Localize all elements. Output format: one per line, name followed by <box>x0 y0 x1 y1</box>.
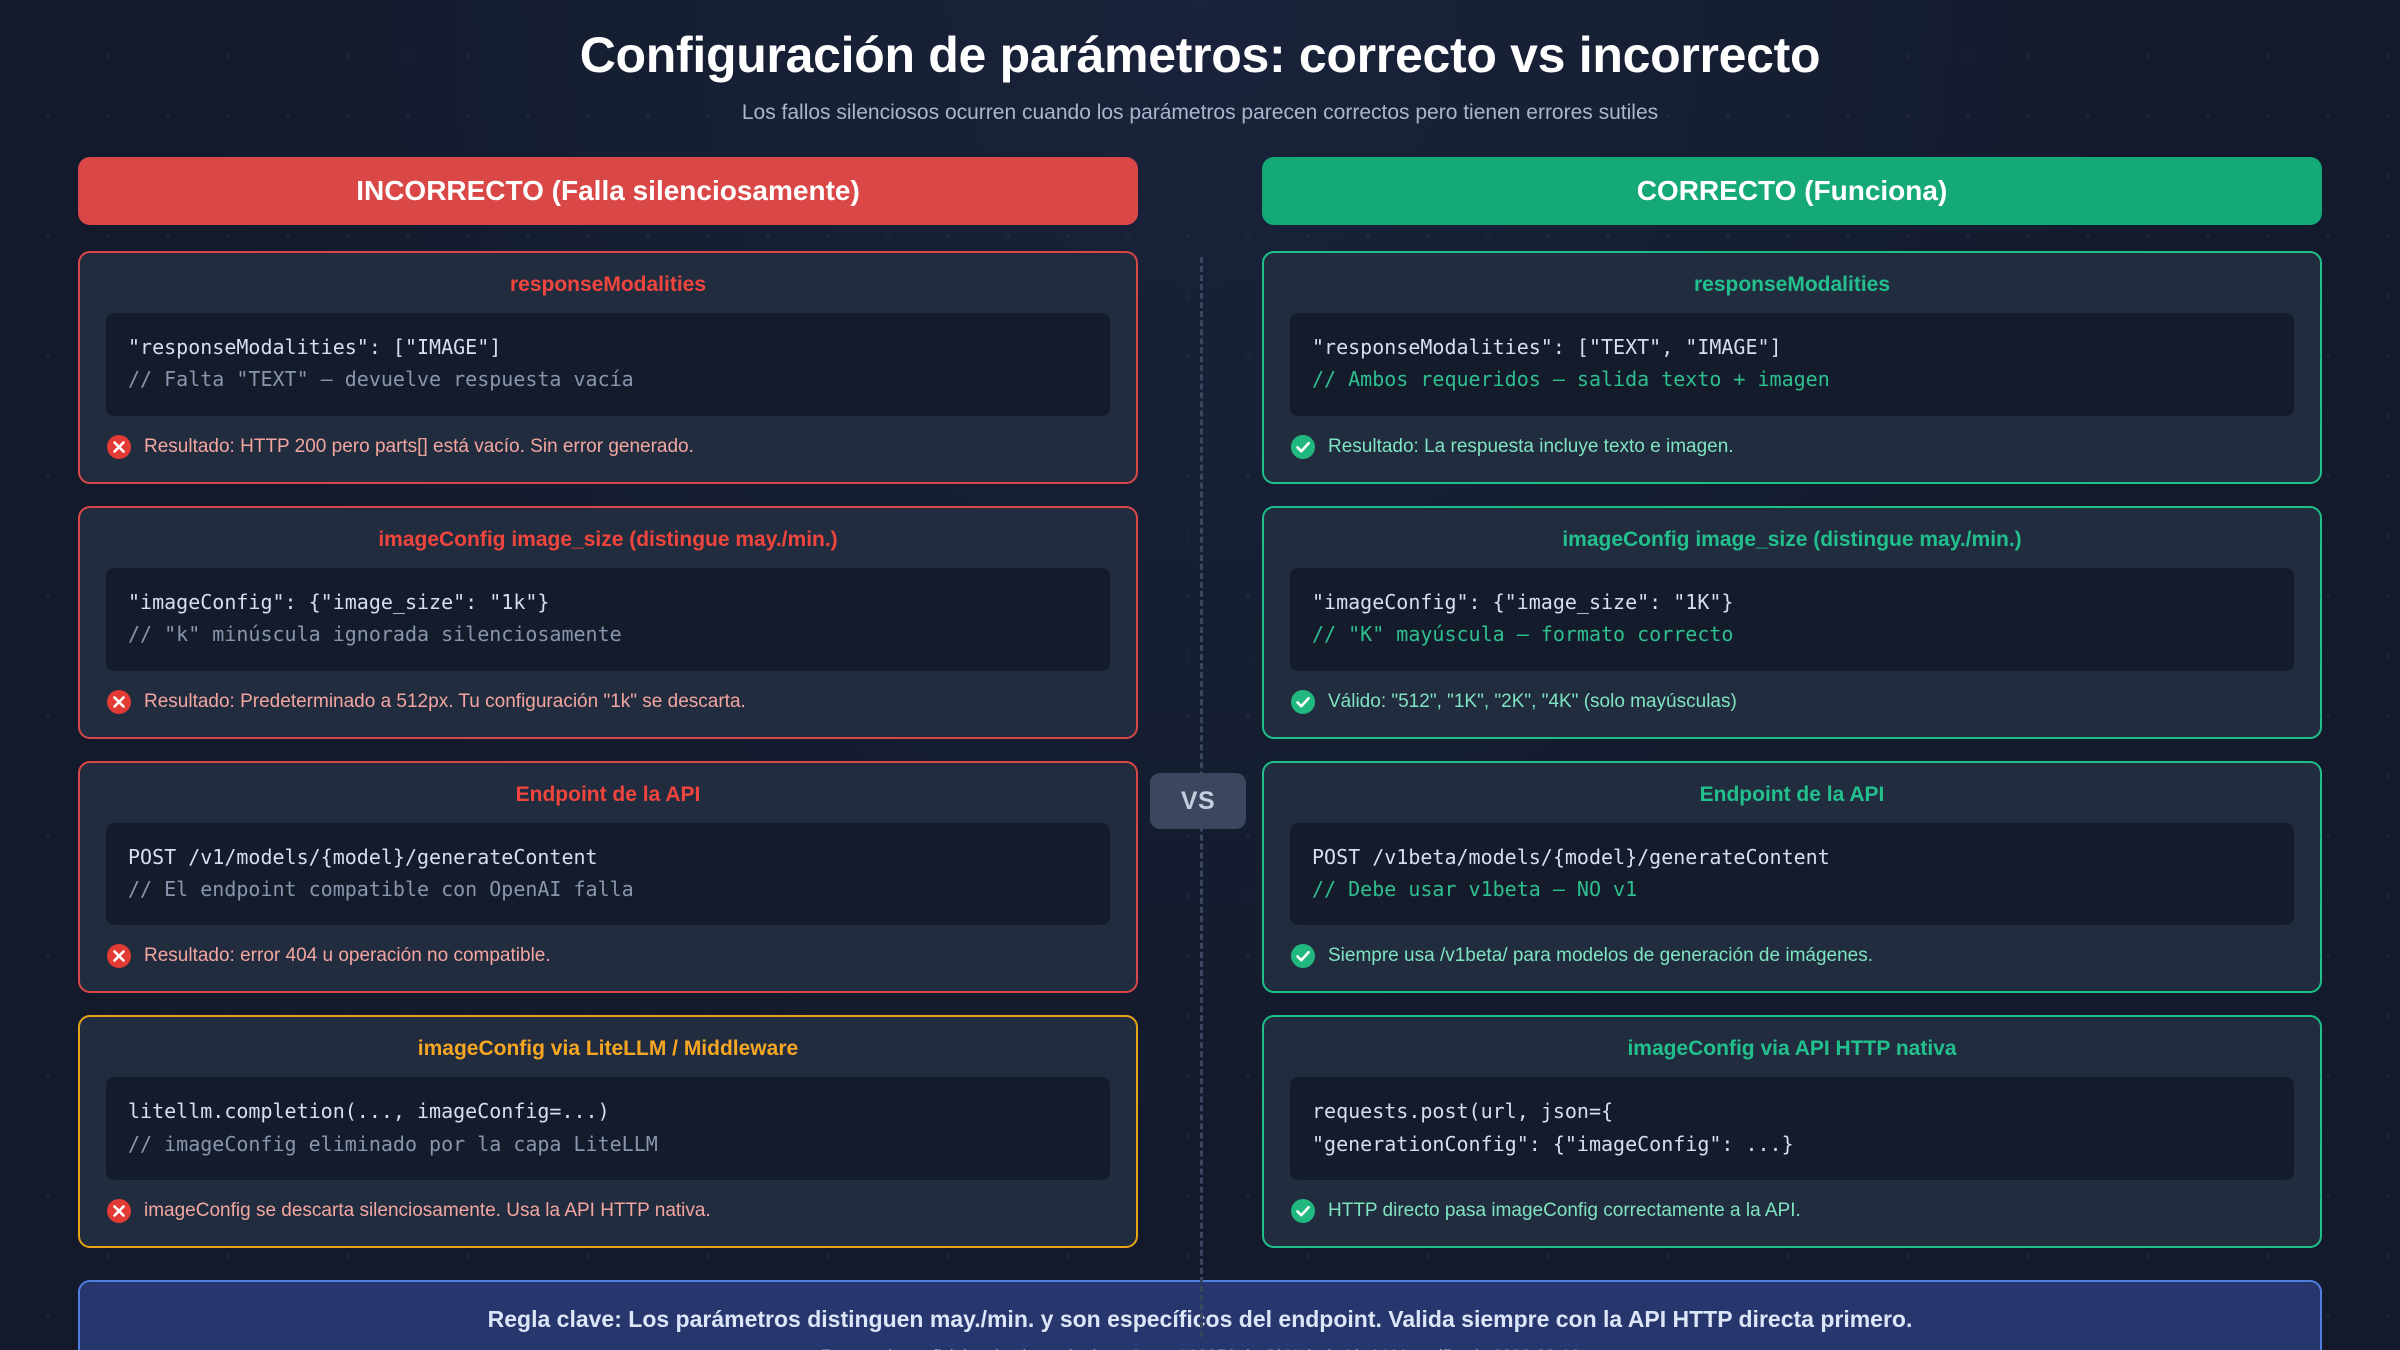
success-check-icon <box>1290 1198 1316 1224</box>
result-row: Resultado: La respuesta incluye texto e … <box>1290 434 2294 460</box>
header: Configuración de parámetros: correcto vs… <box>0 0 2400 125</box>
code-line-primary: "imageConfig": {"image_size": "1k"} <box>128 586 1088 618</box>
code-line-comment: // Debe usar v1beta — NO v1 <box>1312 873 2272 905</box>
code-line-comment: // El endpoint compatible con OpenAI fal… <box>128 873 1088 905</box>
success-check-icon <box>1290 943 1316 969</box>
card-title: imageConfig via LiteLLM / Middleware <box>106 1037 1110 1061</box>
code-line-primary: requests.post(url, json={ <box>1312 1095 2272 1127</box>
card-good-api-endpoint: Endpoint de la API POST /v1beta/models/{… <box>1262 761 2322 994</box>
result-text: Siempre usa /v1beta/ para modelos de gen… <box>1328 945 1873 967</box>
card-title: imageConfig image_size (distingue may./m… <box>106 528 1110 552</box>
error-cross-icon <box>106 943 132 969</box>
card-title: imageConfig image_size (distingue may./m… <box>1290 528 2294 552</box>
code-line-comment: // Ambos requeridos — salida texto + ima… <box>1312 363 2272 395</box>
code-line-comment: // "K" mayúscula — formato correcto <box>1312 618 2272 650</box>
result-row: Resultado: error 404 u operación no comp… <box>106 943 1110 969</box>
column-header-incorrect: INCORRECTO (Falla silenciosamente) <box>78 157 1138 225</box>
card-title: Endpoint de la API <box>1290 783 2294 807</box>
result-text: HTTP directo pasa imageConfig correctame… <box>1328 1200 1801 1222</box>
result-row: imageConfig se descarta silenciosamente.… <box>106 1198 1110 1224</box>
page-subtitle: Los fallos silenciosos ocurren cuando lo… <box>0 101 2400 125</box>
code-line-secondary: "generationConfig": {"imageConfig": ...} <box>1312 1128 2272 1160</box>
result-text: Resultado: HTTP 200 pero parts[] está va… <box>144 436 694 458</box>
card-bad-response-modalities: responseModalities "responseModalities":… <box>78 251 1138 484</box>
infographic-page: Configuración de parámetros: correcto vs… <box>0 0 2400 1350</box>
code-block: "imageConfig": {"image_size": "1k"}// "k… <box>106 568 1110 671</box>
code-line-primary: "responseModalities": ["IMAGE"] <box>128 331 1088 363</box>
code-line-comment: // "k" minúscula ignorada silenciosament… <box>128 618 1088 650</box>
card-bad-image-size: imageConfig image_size (distingue may./m… <box>78 506 1138 739</box>
comparison-columns: VS INCORRECTO (Falla silenciosamente) re… <box>0 125 2400 1270</box>
card-bad-litellm-middleware: imageConfig via LiteLLM / Middleware lit… <box>78 1015 1138 1248</box>
column-header-correct: CORRECTO (Funciona) <box>1262 157 2322 225</box>
code-line-primary: POST /v1/models/{model}/generateContent <box>128 841 1088 873</box>
result-row: Siempre usa /v1beta/ para modelos de gen… <box>1290 943 2294 969</box>
success-check-icon <box>1290 434 1316 460</box>
card-good-native-http-api: imageConfig via API HTTP nativa requests… <box>1262 1015 2322 1248</box>
result-text: Válido: "512", "1K", "2K", "4K" (solo ma… <box>1328 691 1737 713</box>
error-cross-icon <box>106 1198 132 1224</box>
card-title: Endpoint de la API <box>106 783 1110 807</box>
card-good-image-size: imageConfig image_size (distingue may./m… <box>1262 506 2322 739</box>
code-line-primary: litellm.completion(..., imageConfig=...) <box>128 1095 1088 1127</box>
result-text: imageConfig se descarta silenciosamente.… <box>144 1200 711 1222</box>
success-check-icon <box>1290 689 1316 715</box>
code-block: litellm.completion(..., imageConfig=...)… <box>106 1077 1110 1180</box>
error-cross-icon <box>106 689 132 715</box>
result-row: HTTP directo pasa imageConfig correctame… <box>1290 1198 2294 1224</box>
code-block: POST /v1beta/models/{model}/generateCont… <box>1290 823 2294 926</box>
code-block: "imageConfig": {"image_size": "1K"}// "K… <box>1290 568 2294 671</box>
card-bad-api-endpoint: Endpoint de la API POST /v1/models/{mode… <box>78 761 1138 994</box>
card-title: responseModalities <box>1290 273 2294 297</box>
result-row: Resultado: HTTP 200 pero parts[] está va… <box>106 434 1110 460</box>
result-row: Válido: "512", "1K", "2K", "4K" (solo ma… <box>1290 689 2294 715</box>
result-text: Resultado: error 404 u operación no comp… <box>144 945 551 967</box>
card-title: responseModalities <box>106 273 1110 297</box>
code-block: "responseModalities": ["TEXT", "IMAGE"]/… <box>1290 313 2294 416</box>
vs-badge: VS <box>1150 773 1246 829</box>
result-row: Resultado: Predeterminado a 512px. Tu co… <box>106 689 1110 715</box>
page-title: Configuración de parámetros: correcto vs… <box>0 26 2400 85</box>
error-cross-icon <box>106 434 132 460</box>
result-text: Resultado: La respuesta incluye texto e … <box>1328 436 1734 458</box>
code-line-comment: // imageConfig eliminado por la capa Lit… <box>128 1128 1088 1160</box>
code-line-primary: POST /v1beta/models/{model}/generateCont… <box>1312 841 2272 873</box>
code-block: POST /v1/models/{model}/generateContent/… <box>106 823 1110 926</box>
code-block: requests.post(url, json={"generationConf… <box>1290 1077 2294 1180</box>
card-title: imageConfig via API HTTP nativa <box>1290 1037 2294 1061</box>
card-good-response-modalities: responseModalities "responseModalities":… <box>1262 251 2322 484</box>
code-line-comment: // Falta "TEXT" — devuelve respuesta vac… <box>128 363 1088 395</box>
code-line-primary: "imageConfig": {"image_size": "1K"} <box>1312 586 2272 618</box>
code-block: "responseModalities": ["IMAGE"]// Falta … <box>106 313 1110 416</box>
column-correct: CORRECTO (Funciona) responseModalities "… <box>1262 157 2322 1270</box>
code-line-primary: "responseModalities": ["TEXT", "IMAGE"] <box>1312 331 2272 363</box>
column-incorrect: INCORRECTO (Falla silenciosamente) respo… <box>78 157 1138 1270</box>
result-text: Resultado: Predeterminado a 512px. Tu co… <box>144 691 746 713</box>
key-rule-source: Fuente: docs oficiales de ai.google.dev … <box>110 1346 2290 1350</box>
